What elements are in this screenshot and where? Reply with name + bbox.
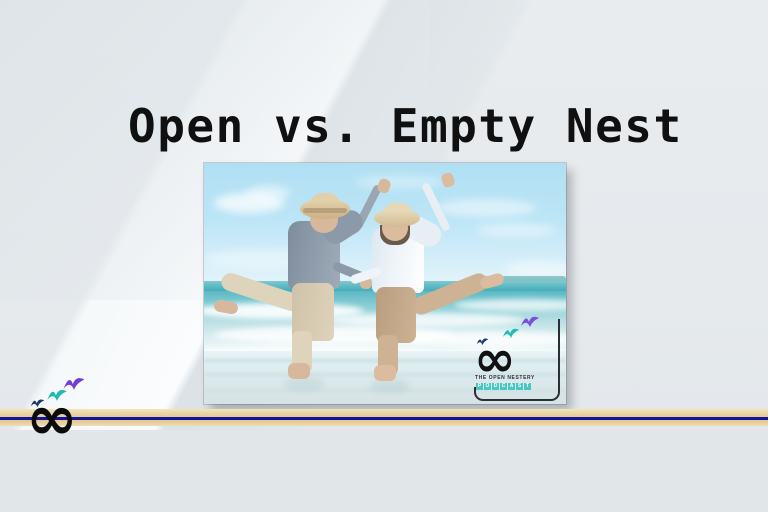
brand-logo: ∞: [26, 374, 102, 446]
podcast-letter-tile: P: [476, 383, 483, 390]
man-hat-band: [303, 208, 347, 213]
watermark-brand-name: THE OPEN NESTERY: [475, 375, 535, 381]
woman-front-foot: [374, 365, 396, 381]
bird-icon: [520, 315, 540, 328]
cloud: [246, 185, 290, 201]
man-front-foot: [288, 363, 310, 379]
podcast-letter-tile: A: [508, 383, 515, 390]
infinity-icon: ∞: [474, 339, 516, 379]
cloud: [436, 199, 536, 217]
page-title: Open vs. Empty Nest: [128, 97, 683, 155]
podcast-letter-tile: S: [516, 383, 523, 390]
cloud: [504, 261, 566, 277]
podcast-letter-tile: O: [484, 383, 491, 390]
podcast-letter-tile: D: [492, 383, 499, 390]
photo-watermark-logo: ∞ THE OPEN NESTERY P O D C A S T: [466, 313, 562, 401]
background-bottom-band: [0, 430, 768, 512]
podcast-letter-tile: C: [500, 383, 507, 390]
blue-divider-rule: [0, 417, 768, 420]
cloud: [476, 223, 556, 237]
slide-canvas: Open vs. Empty Nest: [0, 0, 768, 512]
water-reflection: [284, 377, 324, 391]
infinity-icon: ∞: [26, 390, 78, 446]
woman-hat-brim: [374, 209, 420, 227]
watermark-podcast-tiles: P O D C A S T: [476, 383, 531, 390]
hero-photo: ∞ THE OPEN NESTERY P O D C A S T: [204, 163, 566, 404]
water-reflection: [370, 379, 410, 393]
podcast-letter-tile: T: [524, 383, 531, 390]
